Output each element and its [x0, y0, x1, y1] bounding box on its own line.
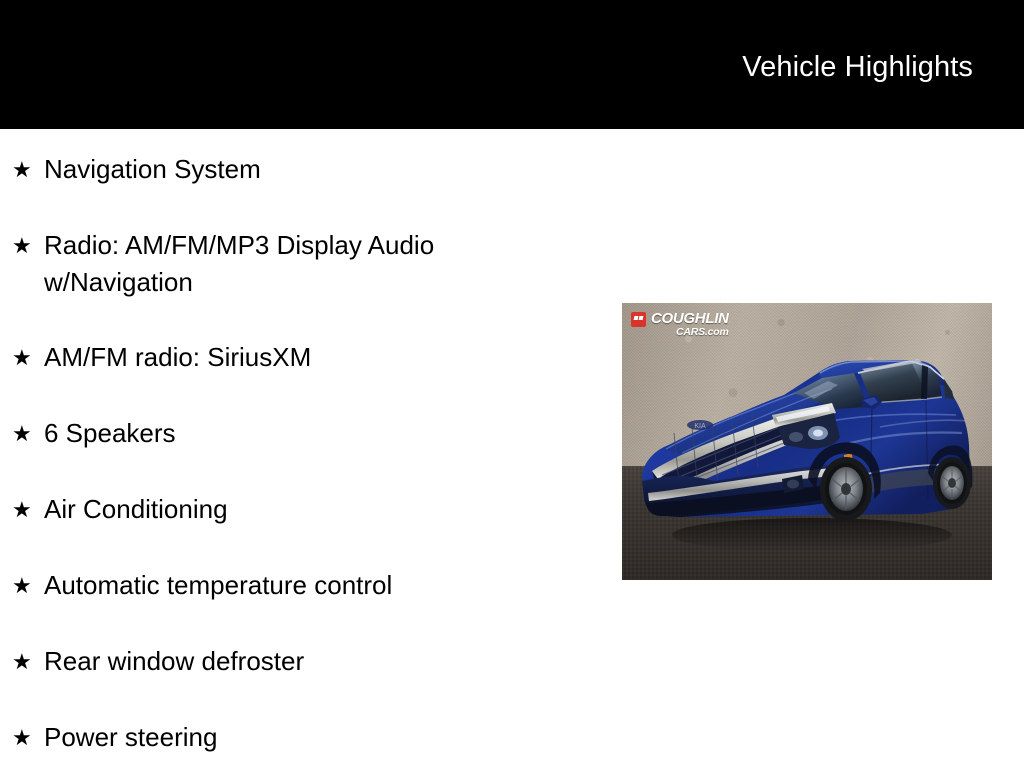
star-icon: ★ [12, 227, 34, 264]
watermark-text: COUGHLIN CARS.com [651, 311, 729, 338]
star-icon: ★ [12, 491, 34, 528]
vehicle-highlights-list: ★ Navigation System ★ Radio: AM/FM/MP3 D… [0, 129, 600, 757]
list-item: ★ AM/FM radio: SiriusXM [0, 339, 600, 377]
list-item-label: Navigation System [44, 151, 600, 188]
star-icon: ★ [12, 567, 34, 604]
star-icon: ★ [12, 339, 34, 376]
star-icon: ★ [12, 415, 34, 452]
header-bar: Vehicle Highlights [0, 0, 1024, 129]
list-item-label: Radio: AM/FM/MP3 Display Audio w/Navigat… [44, 227, 600, 301]
list-item-label: Rear window defroster [44, 643, 600, 680]
list-item: ★ Rear window defroster [0, 643, 600, 681]
coughlin-logo-icon [631, 312, 646, 327]
list-item-label: Automatic temperature control [44, 567, 600, 604]
svg-text:KIA: KIA [694, 423, 706, 430]
list-item-label: Air Conditioning [44, 491, 600, 528]
list-item-label: Power steering [44, 719, 600, 756]
vehicle-illustration: KIA [622, 303, 992, 580]
vehicle-photo: KIA [622, 303, 992, 580]
star-icon: ★ [12, 643, 34, 680]
list-item: ★ Power steering [0, 719, 600, 757]
star-icon: ★ [12, 719, 34, 756]
star-icon: ★ [12, 151, 34, 188]
watermark-subtitle: CARS.com [651, 327, 729, 338]
list-item: ★ Navigation System [0, 151, 600, 189]
list-item-label: 6 Speakers [44, 415, 600, 452]
list-item: ★ Air Conditioning [0, 491, 600, 529]
list-item: ★ 6 Speakers [0, 415, 600, 453]
list-item: ★ Automatic temperature control [0, 567, 600, 605]
page-title: Vehicle Highlights [742, 50, 973, 84]
list-item-label: AM/FM radio: SiriusXM [44, 339, 600, 376]
watermark-brand: COUGHLIN [651, 311, 729, 326]
list-item: ★ Radio: AM/FM/MP3 Display Audio w/Navig… [0, 227, 600, 301]
watermark: COUGHLIN CARS.com [631, 311, 729, 338]
